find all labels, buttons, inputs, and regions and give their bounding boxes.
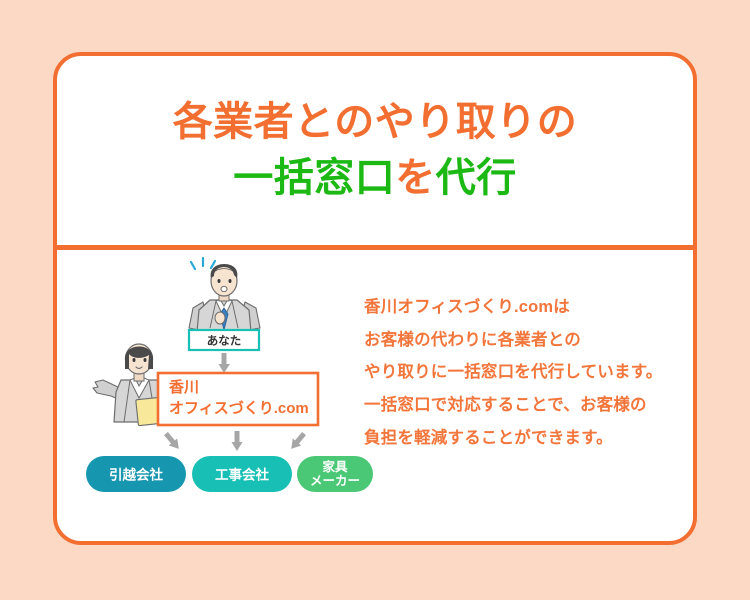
vendor-pill-label-2: 工事会社 [215,467,269,483]
arrows-to-vendors [162,430,309,452]
you-label-text: あなた [207,335,242,348]
service-flow-diagram: あなた [73,256,373,506]
center-box-line-1: 香川 [169,378,199,396]
page-title-line-1: 各業者とのやり取りの [173,95,578,150]
vendor-pill-construction-company[interactable]: 工事会社 [192,456,292,492]
center-service-box: 香川 オフィスづくり.com [158,373,318,425]
vendor-pill-label-1: 引越会社 [109,467,163,483]
description-line-5: 負担を軽減することができます。 [364,425,694,452]
description-line-4: 一括窓口で対応することで、お客様の [364,392,694,419]
worried-businessman-illustration [189,258,260,332]
vendor-pill-label-3b: メーカー [310,474,360,488]
page-title-line-2: 一括窓口を代行 [233,151,517,206]
description-line-3: やり取りに一括窓口を代行しています。 [364,359,694,386]
title-part-ikkatsu-madoguchi: 一括窓口 [233,156,395,200]
description-text-block: 香川オフィスづくり.comは お客様の代わりに各業者との やり取りに一括窓口を代… [364,294,694,452]
title-part-wo: を [395,156,436,200]
emotion-marks-icon [191,258,215,269]
vendor-pill-moving-company[interactable]: 引越会社 [86,456,186,492]
arrow-to-vendor-1 [162,430,183,452]
vendor-pill-furniture-maker[interactable]: 家具 メーカー [297,456,373,492]
description-line-2: お客様の代わりに各業者との [364,327,694,354]
arrow-you-to-center [219,353,231,373]
card-header: 各業者とのやり取りの 一括窓口を代行 [57,56,693,250]
promo-banner: 各業者とのやり取りの 一括窓口を代行 [0,0,750,600]
center-box-line-2: オフィスづくり.com [169,400,309,417]
card-body: あなた [57,250,693,544]
description-line-1: 香川オフィスづくり.comは [364,294,694,321]
arrow-to-vendor-2 [232,431,243,451]
arrow-to-vendor-3 [287,430,308,452]
content-card: 各業者とのやり取りの 一括窓口を代行 [53,52,697,545]
you-label-box: あなた [189,330,259,350]
vendor-pill-label-3a: 家具 [322,459,348,474]
title-part-daiko: 代行 [436,156,517,200]
